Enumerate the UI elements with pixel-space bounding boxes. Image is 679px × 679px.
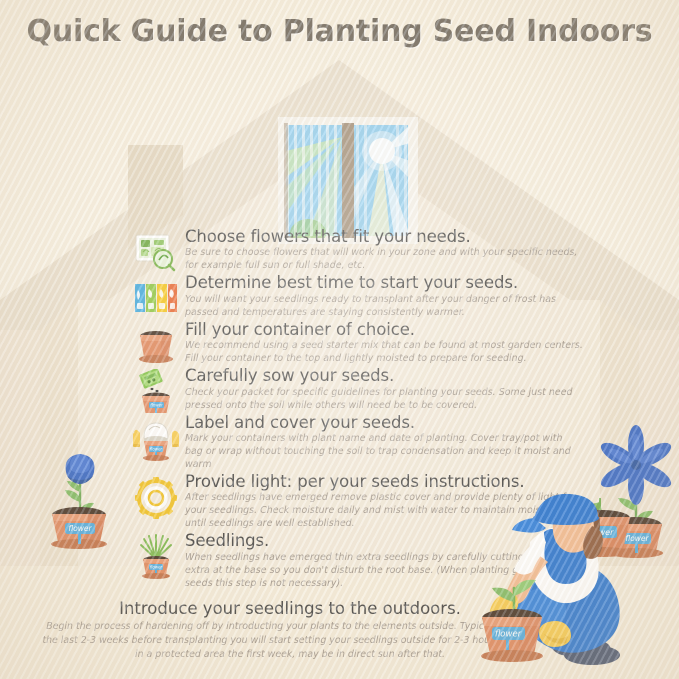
step-body: Check your packet for specific guideline…: [185, 387, 583, 413]
step-heading: Carefully sow your seeds.: [185, 367, 583, 385]
page-title: Quick Guide to Planting Seed Indoors: [0, 14, 679, 49]
step-body: Mark your containers with plant name and…: [185, 433, 583, 472]
svg-text:flower: flower: [495, 630, 522, 640]
seed-catalog-icon: [133, 230, 179, 276]
step-item: flower Label and cover your seeds. Mark …: [133, 414, 583, 472]
sunny-window-illustration: [278, 117, 418, 244]
step-body: We recommend using a seed starter mix th…: [185, 340, 583, 366]
step-heading: Choose flowers that fit your needs.: [185, 228, 583, 246]
step-item: Fill your container of choice. We recomm…: [133, 321, 583, 366]
step-body: Be sure to choose flowers that will work…: [185, 247, 583, 273]
step-heading: Fill your container of choice.: [185, 321, 583, 339]
blue-bell-flower-pot: flower: [36, 410, 122, 550]
step-item: Choose flowers that fit your needs. Be s…: [133, 228, 583, 273]
filled-pot-icon: [133, 323, 179, 369]
svg-text:flower: flower: [150, 446, 163, 451]
step-heading: Provide light: per your seeds instructio…: [185, 473, 583, 491]
gardener-planting-illustration: flower: [452, 492, 679, 679]
step-heading: Determine best time to start your seeds.: [185, 274, 583, 292]
step-heading: Label and cover your seeds.: [185, 414, 583, 432]
svg-text:flower: flower: [68, 524, 92, 533]
sun-light-ring-icon: [133, 475, 179, 521]
svg-text:flower: flower: [150, 565, 163, 570]
seed-packet-sowing-icon: flower: [133, 369, 179, 415]
four-seasons-calendar-icon: [133, 276, 179, 322]
step-item: flower Carefully sow your seeds. Check y…: [133, 367, 583, 412]
infographic-canvas: Quick Guide to Planting Seed Indoors: [0, 0, 679, 679]
step-body: You will want your seedlings ready to tr…: [185, 294, 583, 320]
gloves-covered-pot-icon: flower: [133, 416, 179, 462]
svg-text:flower: flower: [150, 403, 163, 408]
step-item: Determine best time to start your seeds.…: [133, 274, 583, 319]
seedlings-pot-icon: flower: [133, 534, 179, 580]
